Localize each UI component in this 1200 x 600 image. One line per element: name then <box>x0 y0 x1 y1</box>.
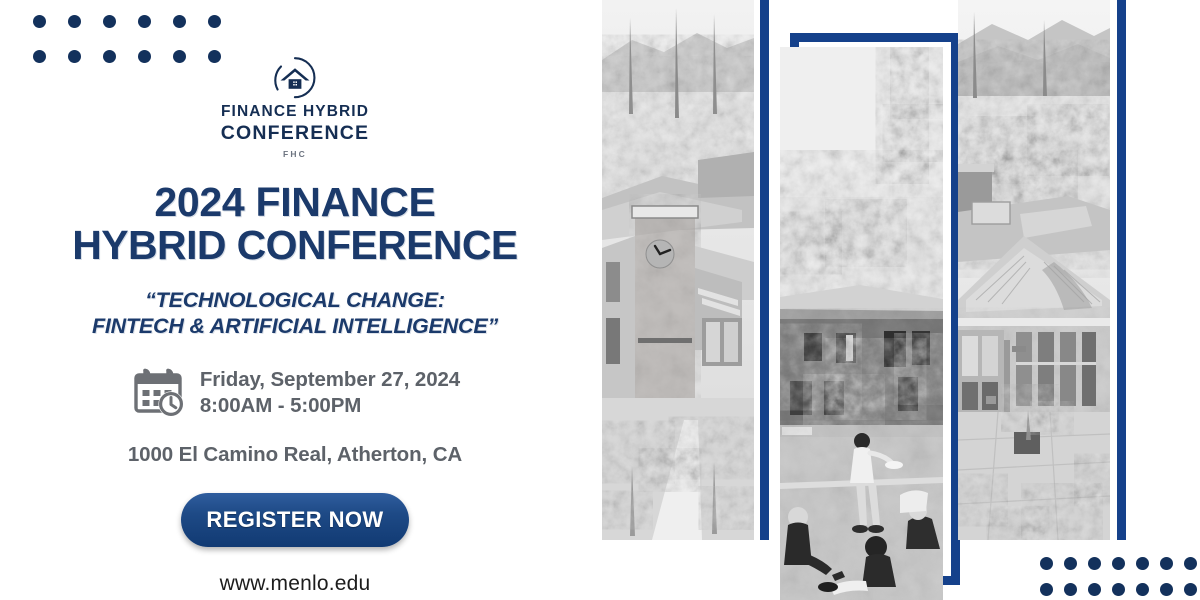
decorative-dot <box>1136 557 1149 570</box>
conference-theme: “TECHNOLOGICAL CHANGE: FINTECH & ARTIFIC… <box>92 288 498 339</box>
page-title: 2024 FINANCE HYBRID CONFERENCE <box>72 181 517 266</box>
website-url: www.menlo.edu <box>220 572 371 596</box>
content-column: FINANCE HYBRID CONFERENCE FHC 2024 FINAN… <box>0 0 590 600</box>
decorative-dot <box>1064 557 1077 570</box>
decorative-dot <box>1040 583 1053 596</box>
accent-bar-right <box>1117 0 1126 540</box>
photo-collage <box>590 0 1200 600</box>
event-banner: FINANCE HYBRID CONFERENCE FHC 2024 FINAN… <box>0 0 1200 600</box>
photo-clock-tower <box>602 0 754 540</box>
event-date: Friday, September 27, 2024 <box>200 367 460 393</box>
decorative-dot <box>1160 557 1173 570</box>
event-datetime: Friday, September 27, 2024 8:00AM - 5:00… <box>130 367 460 419</box>
accent-bar-left <box>760 0 769 540</box>
event-address: 1000 El Camino Real, Atherton, CA <box>128 443 462 467</box>
decorative-dot <box>1112 583 1125 596</box>
decorative-dot <box>1136 583 1149 596</box>
dot-grid-bottom-right <box>1040 550 1200 600</box>
logo-text-line2: CONFERENCE <box>221 122 370 145</box>
decorative-dot <box>1160 583 1173 596</box>
decorative-dot <box>1088 583 1101 596</box>
photo-students-lawn <box>780 47 943 600</box>
subtitle-line2: FINTECH & ARTIFICIAL INTELLIGENCE” <box>92 314 498 339</box>
decorative-dot <box>1184 557 1197 570</box>
subtitle-line1: “TECHNOLOGICAL CHANGE: <box>92 288 498 313</box>
event-time: 8:00AM - 5:00PM <box>200 393 460 419</box>
calendar-clock-icon <box>130 367 186 419</box>
decorative-dot <box>1184 583 1197 596</box>
decorative-dot <box>1064 583 1077 596</box>
logo-text-line1: FINANCE HYBRID <box>221 103 369 121</box>
house-in-circle-logo-icon <box>269 55 321 101</box>
decorative-dot <box>1112 557 1125 570</box>
photo-campus-building <box>958 0 1110 540</box>
logo-text-line3: FHC <box>283 149 307 159</box>
register-now-button[interactable]: REGISTER NOW <box>181 493 409 547</box>
conference-logo: FINANCE HYBRID CONFERENCE FHC <box>221 55 370 159</box>
decorative-dot <box>1088 557 1101 570</box>
decorative-dot <box>1040 557 1053 570</box>
headline-line2: HYBRID CONFERENCE <box>72 224 517 267</box>
headline-line1: 2024 FINANCE <box>72 181 517 224</box>
